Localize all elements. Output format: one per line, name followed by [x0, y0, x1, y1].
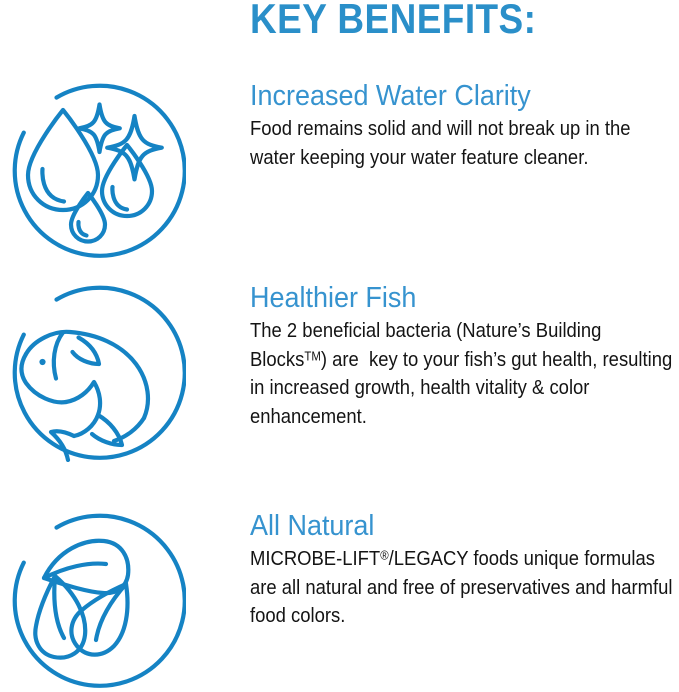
benefit-heading: All Natural — [250, 510, 645, 543]
benefit-text-all-natural: All Natural MICROBE-LIFT®/LEGACY foods u… — [250, 510, 675, 631]
trademark-symbol: TM — [304, 348, 321, 363]
page-title: KEY BENEFITS: — [250, 0, 536, 43]
three-leaves-recycle-icon — [6, 510, 186, 690]
leaping-fish-icon — [6, 282, 186, 462]
benefit-heading: Healthier Fish — [250, 282, 645, 315]
registered-symbol: ® — [380, 547, 388, 562]
benefit-body: The 2 beneficial bacteria (Nature’s Buil… — [250, 317, 673, 431]
benefit-text-healthier-fish: Healthier Fish The 2 beneficial bacteria… — [250, 282, 675, 431]
benefit-body: Food remains solid and will not break up… — [250, 115, 673, 172]
key-benefits-page: KEY BENEFITS: Increas — [0, 0, 679, 692]
water-droplets-sparkle-icon — [6, 80, 186, 260]
benefit-body: MICROBE-LIFT®/LEGACY foods unique formul… — [250, 545, 673, 631]
benefit-body-part-1: MICROBE-LIFT — [250, 547, 380, 570]
benefit-text-water-clarity: Increased Water Clarity Food remains sol… — [250, 80, 675, 172]
benefit-heading: Increased Water Clarity — [250, 80, 645, 113]
